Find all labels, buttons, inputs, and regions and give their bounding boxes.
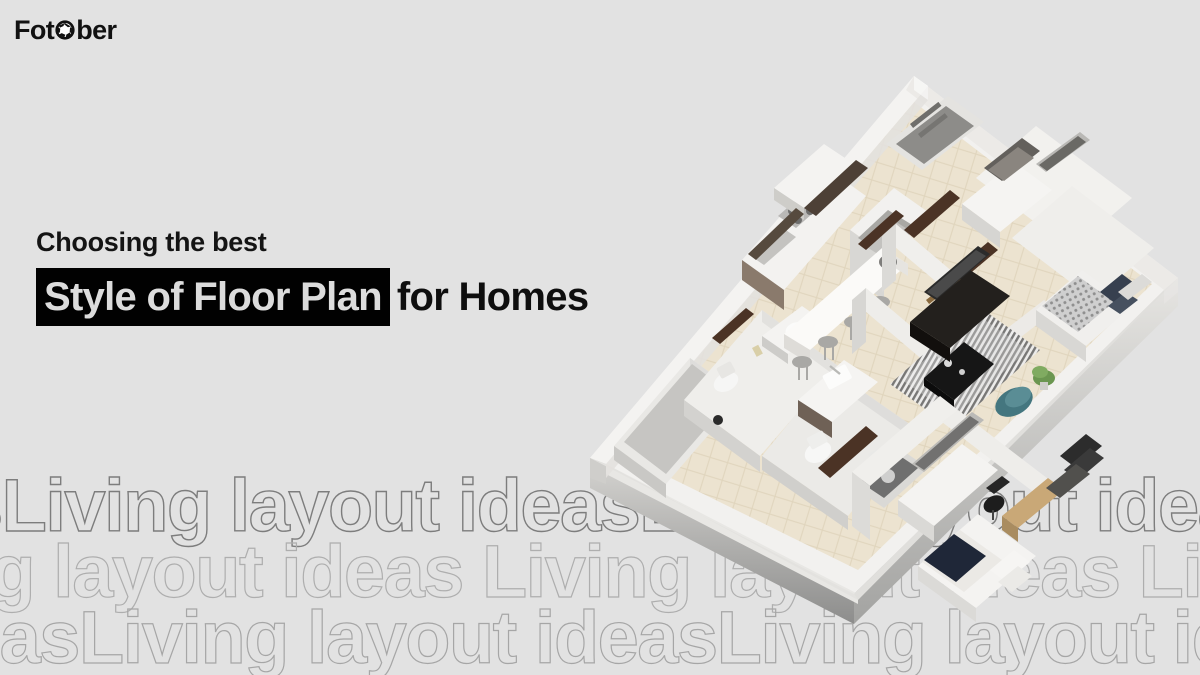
floorplan-3d-render <box>566 48 1200 628</box>
headline-title: Style of Floor Plan for Homes <box>36 268 588 326</box>
headline-highlight: Style of Floor Plan <box>36 268 390 326</box>
headline-kicker: Choosing the best <box>36 228 588 258</box>
logo-text-fot: Fot <box>14 17 54 44</box>
headline-block: Choosing the best Style of Floor Plan fo… <box>36 228 588 326</box>
brand-logo[interactable]: Fot ber <box>14 13 116 47</box>
headline-rest: for Homes <box>390 277 589 317</box>
camera-aperture-icon <box>54 19 76 41</box>
balcony-unit <box>1046 434 1104 498</box>
logo-text-ber: ber <box>76 17 116 44</box>
